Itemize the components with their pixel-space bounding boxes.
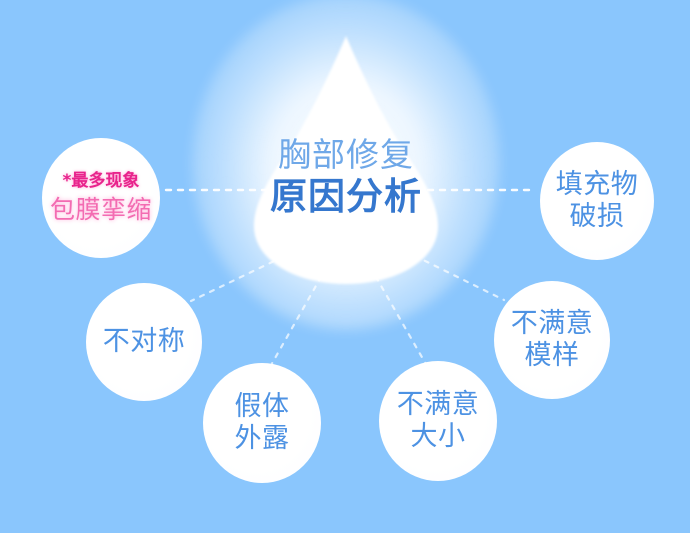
center-droplet: 胸部修复 原因分析 (248, 34, 444, 286)
bubble-asymmetry-label: 不对称 (103, 326, 186, 358)
infographic-canvas: 胸部修复 原因分析 *最多现象 包膜挛缩 填充物 破损 不对称 假体 外露 不满… (0, 0, 690, 533)
bubble-capsular-note: *最多现象 (63, 171, 140, 191)
bubble-filler-rupture[interactable]: 填充物 破损 (540, 142, 654, 260)
bubble-size-label-line1: 不满意 (397, 389, 480, 421)
center-title-line2: 原因分析 (216, 178, 476, 215)
center-title: 胸部修复 原因分析 (216, 138, 476, 215)
bubble-implant-exposure[interactable]: 假体 外露 (203, 363, 321, 483)
bubble-unsatisfied-shape[interactable]: 不满意 模样 (494, 281, 610, 399)
bubble-capsular-contracture[interactable]: *最多现象 包膜挛缩 (42, 138, 160, 258)
bubble-capsular-label: 包膜挛缩 (50, 195, 152, 225)
bubble-unsatisfied-size[interactable]: 不满意 大小 (379, 361, 497, 481)
bubble-asymmetry[interactable]: 不对称 (86, 283, 202, 401)
center-title-line1: 胸部修复 (216, 138, 476, 171)
bubble-shape-label-line2: 模样 (525, 340, 580, 372)
bubble-shape-label-line1: 不满意 (511, 308, 594, 340)
bubble-exposure-label-line2: 外露 (235, 423, 290, 455)
bubble-rupture-label-line2: 破损 (570, 201, 625, 233)
bubble-exposure-label-line1: 假体 (235, 391, 290, 423)
bubble-size-label-line2: 大小 (411, 421, 466, 453)
bubble-rupture-label-line1: 填充物 (556, 169, 639, 201)
